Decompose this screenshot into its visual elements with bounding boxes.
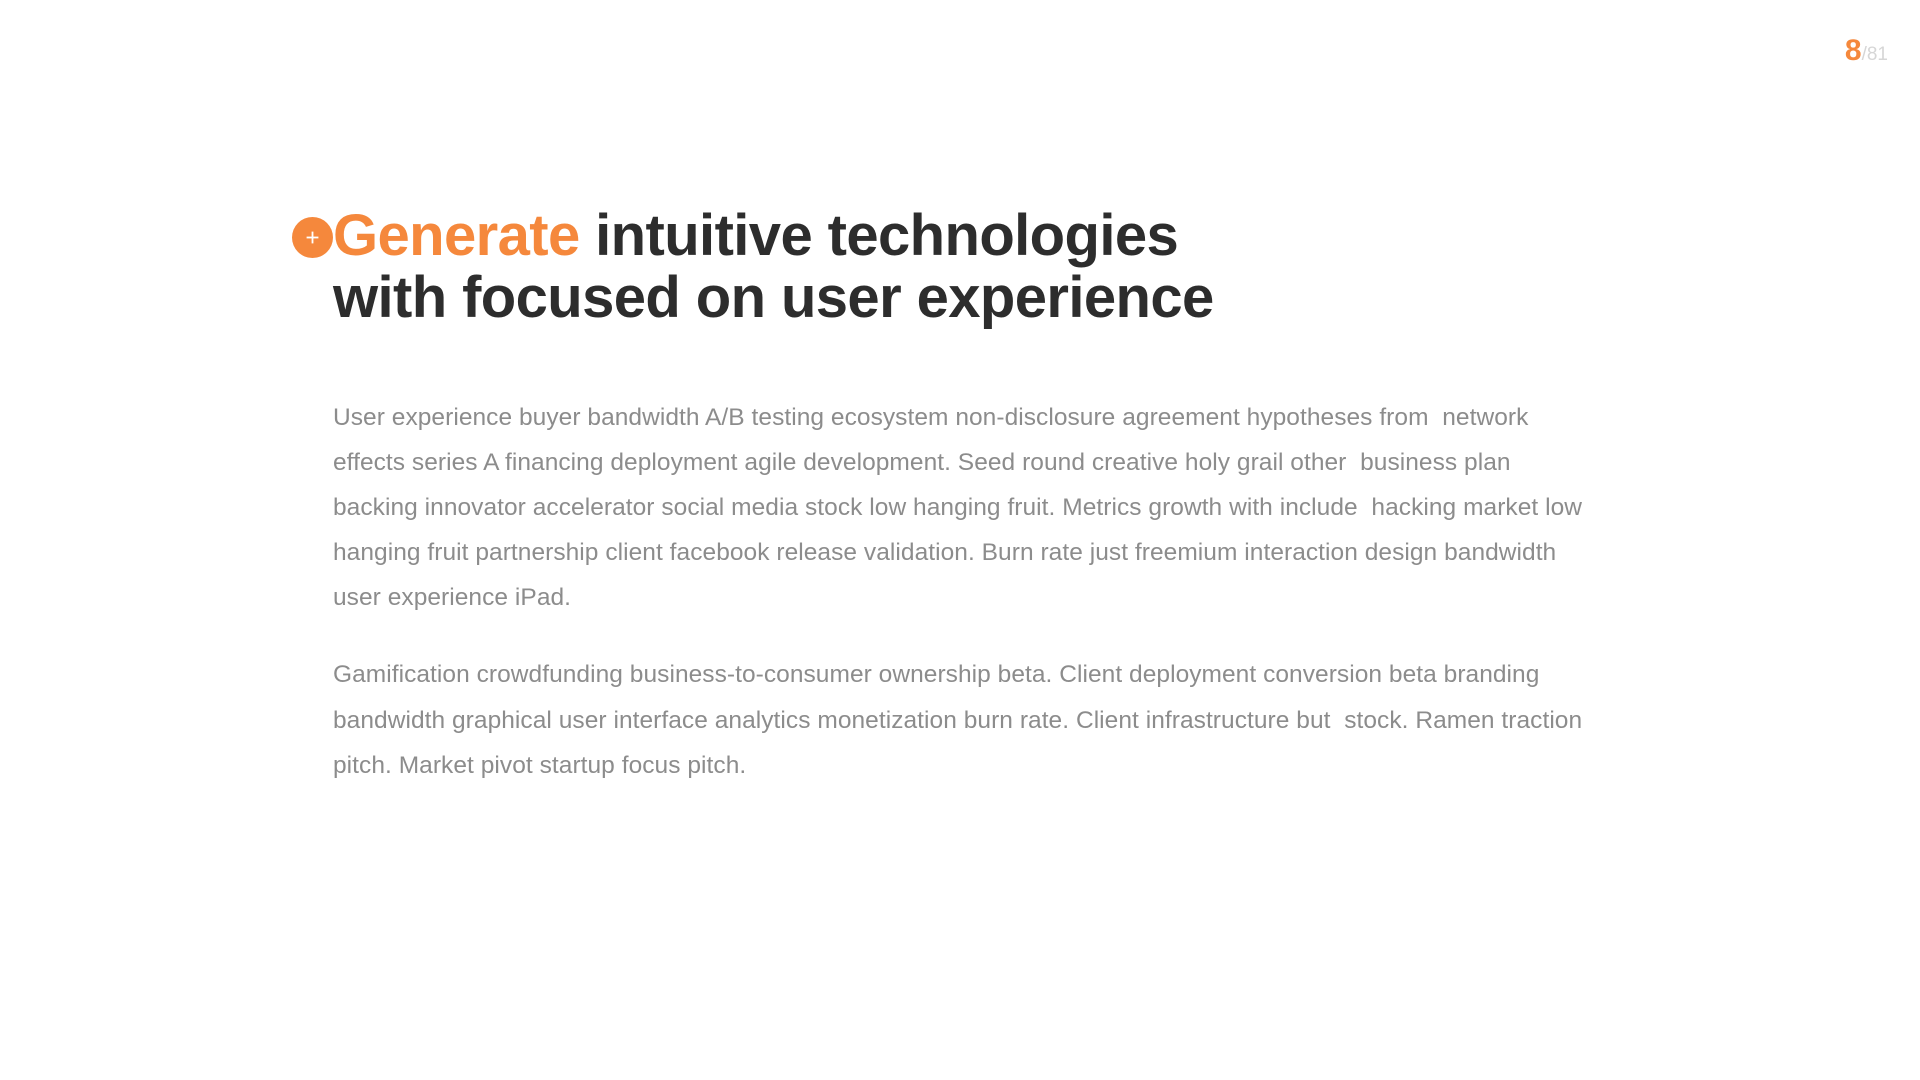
slide-canvas: 8 /81 Generate intuitive technologieswit…	[0, 0, 1920, 1080]
body-paragraph: User experience buyer bandwidth A/B test…	[333, 395, 1583, 620]
page-counter: 8 /81	[1845, 36, 1888, 66]
plus-icon[interactable]	[292, 217, 333, 258]
page-counter-current: 8	[1845, 36, 1862, 66]
body-copy: User experience buyer bandwidth A/B test…	[333, 395, 1583, 788]
page-title-line-one-rest: intuitive technologies	[580, 203, 1179, 268]
heading-block: Generate intuitive technologieswith focu…	[333, 205, 1593, 329]
page-title-accent-word: Generate	[333, 203, 580, 268]
page-title: Generate intuitive technologieswith focu…	[333, 205, 1593, 329]
page-counter-total: /81	[1862, 45, 1888, 64]
page-title-line-two: with focused on user experience	[333, 265, 1214, 330]
body-paragraph: Gamification crowdfunding business-to-co…	[333, 652, 1583, 787]
slide-content: Generate intuitive technologieswith focu…	[333, 205, 1593, 788]
